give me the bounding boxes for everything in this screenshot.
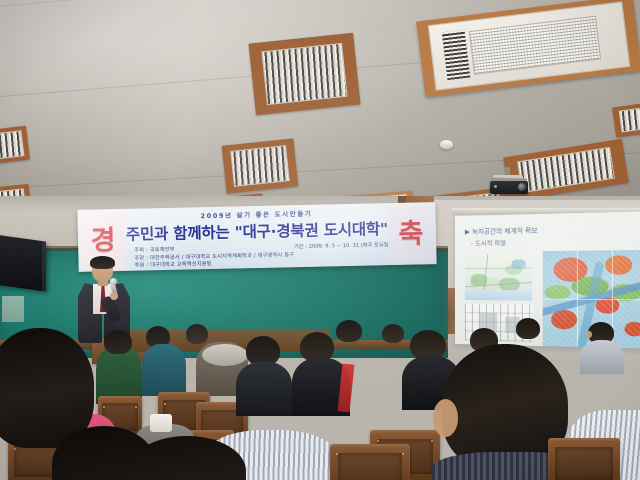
- banner-text-block: 2009년 살기 좋은 도시만들기 주민과 함께하는 "대구·경북권 도시대학"…: [127, 203, 386, 271]
- audience-scarf: [202, 344, 248, 366]
- presenter-hand: [110, 292, 118, 300]
- audience-seating: [0, 318, 640, 480]
- projector-lens-icon: [518, 183, 526, 191]
- audience-body: [142, 344, 186, 396]
- slide-text-block: ▶ 녹지공간의 체계적 확보 - 도시적 파열: [465, 222, 640, 248]
- ceiling-air-vent: [0, 126, 30, 165]
- banner-main-title: 주민과 함께하는 "대구·경북권 도시대학": [126, 217, 388, 245]
- audience-person: [336, 320, 362, 342]
- ceiling-air-vent: [249, 33, 361, 116]
- audience-person: [186, 324, 208, 344]
- ceiling-air-vent: [222, 138, 299, 193]
- auditorium-chair: [330, 444, 410, 480]
- microphone-head-icon: [110, 278, 117, 285]
- slide-heading-line-2: - 도시적 파열: [471, 236, 640, 248]
- banner-left-character: 경: [90, 227, 115, 255]
- audience-person: [516, 318, 540, 339]
- slide-heading-line-1: ▶ 녹지공간의 체계적 확보: [465, 222, 640, 236]
- presenter-hair: [90, 256, 115, 269]
- wall-mounted-speaker: [0, 234, 46, 291]
- audience-body: [236, 362, 292, 416]
- audience-person-foreground: [52, 426, 156, 480]
- banner-right-character: 축: [398, 220, 423, 248]
- ceiling: [0, 0, 640, 205]
- banner-organizers: 주최 : 국토해양부 주관 : 대한주택공사 / 대구대학교 도시지역계획학과 …: [134, 243, 294, 268]
- photograph-lecture-hall: 경 2009년 살기 좋은 도시만들기 주민과 함께하는 "대구·경북권 도시대…: [0, 0, 640, 480]
- banner-detail-rows: 주최 : 국토해양부 주관 : 대한주택공사 / 대구대학교 도시지역계획학과 …: [128, 241, 386, 269]
- audience-body: [580, 340, 624, 374]
- auditorium-chair: [548, 438, 620, 480]
- banner-period: 기간 : 2009. 9. 5 ~ 10. 31 (매주 토요일): [294, 241, 390, 250]
- audience-person: [104, 330, 132, 354]
- banner-right-accent: 축: [387, 204, 434, 263]
- ceiling-air-vent: [612, 101, 640, 138]
- smoke-detector-icon: [440, 140, 453, 149]
- slide-site-plan-thumbnail: [465, 253, 532, 300]
- audience-person: [382, 324, 404, 343]
